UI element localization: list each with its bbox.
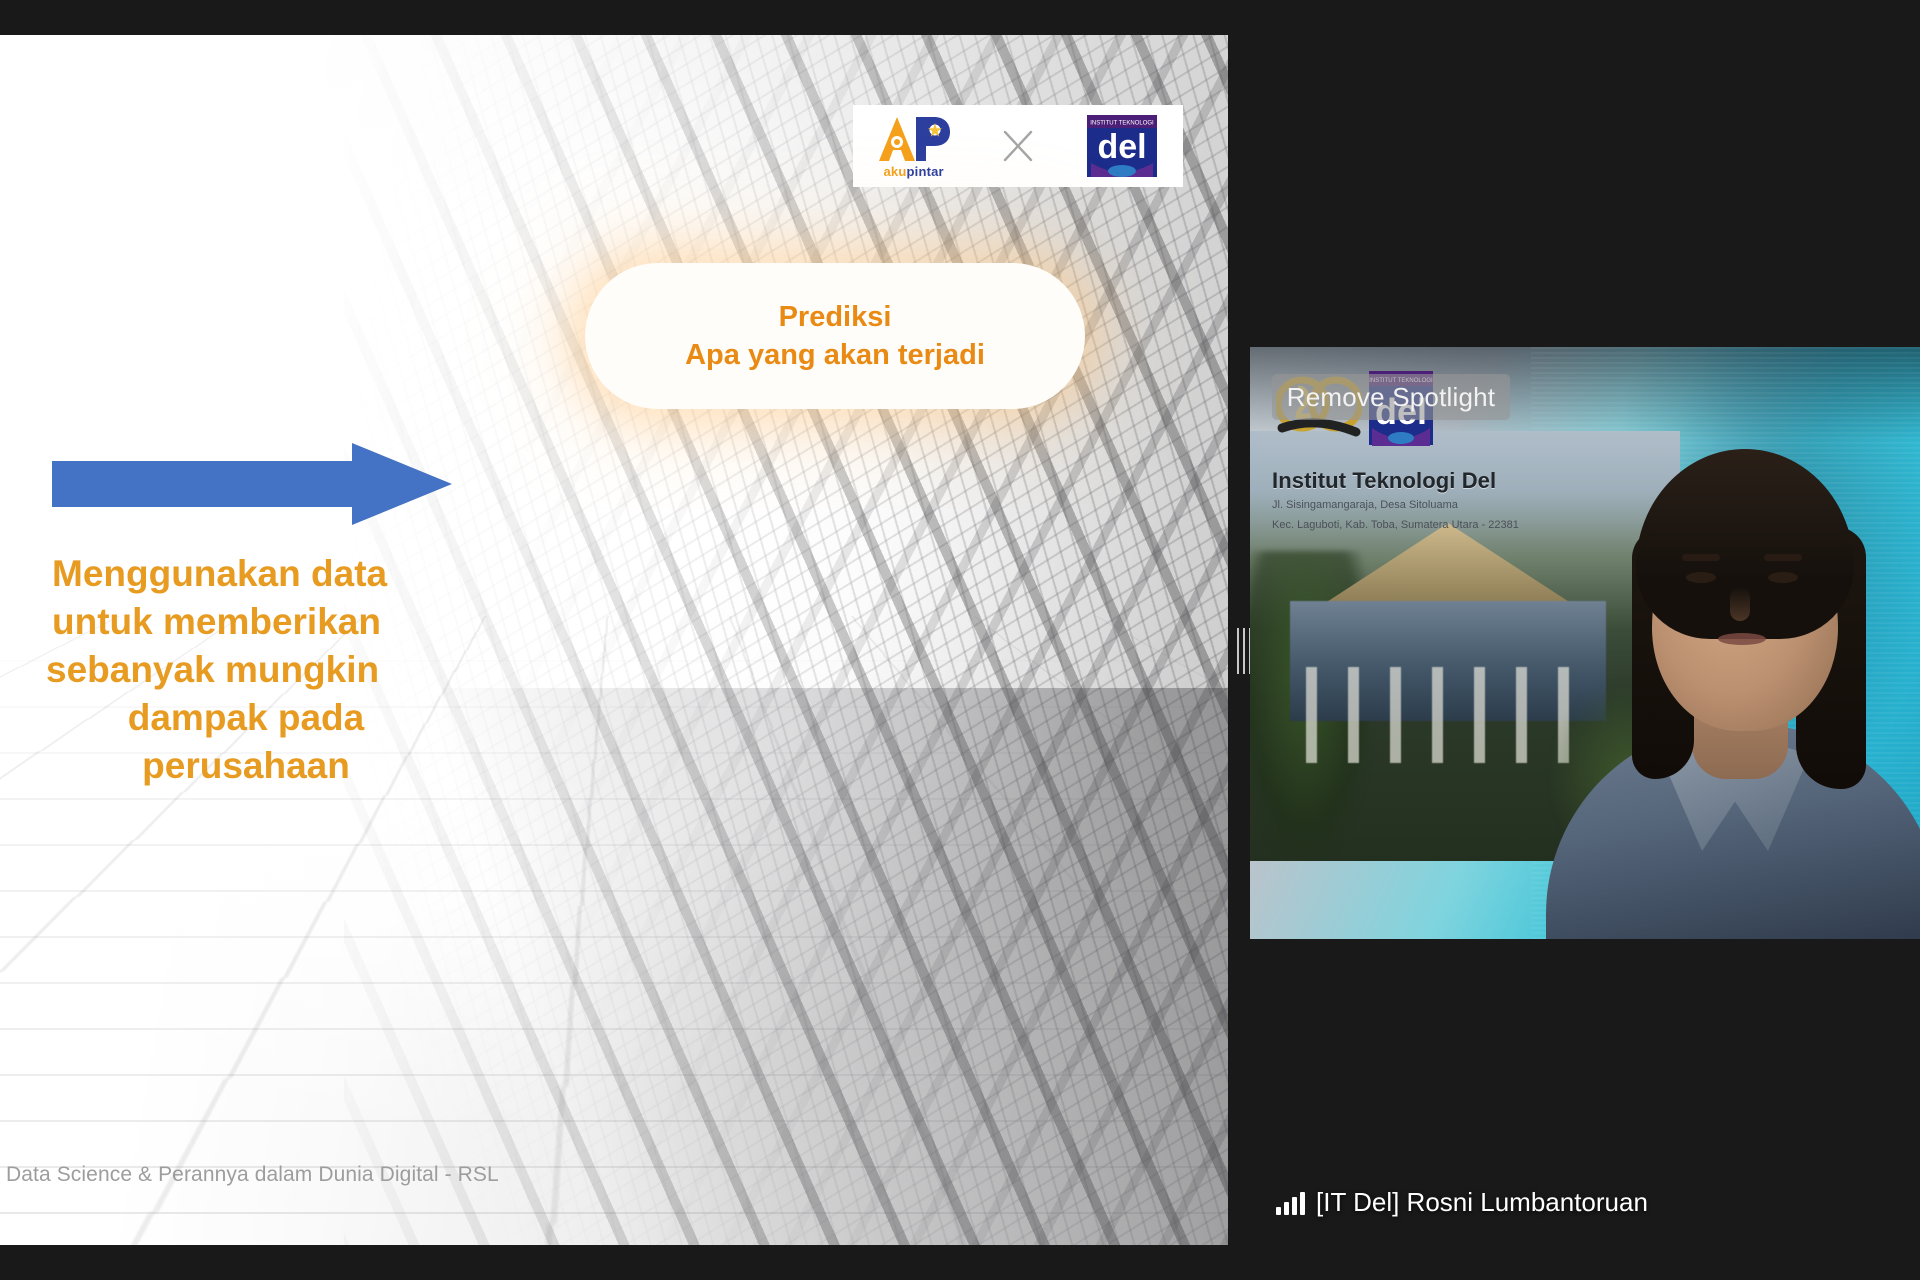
signal-bar bbox=[1284, 1202, 1289, 1215]
body-line-5: perusahaan bbox=[46, 742, 446, 790]
avatar-eye-right bbox=[1768, 572, 1798, 583]
akupintar-p-icon bbox=[910, 115, 952, 163]
akupintar-mark bbox=[877, 115, 951, 163]
shared-slide[interactable]: akupintar INSTITUT TEKNOLOGI del Prediks… bbox=[0, 35, 1228, 1245]
body-line-1: Menggunakan data bbox=[46, 550, 446, 598]
avatar-mouth bbox=[1718, 633, 1766, 645]
slide-body-text: Menggunakan data untuk memberikan sebany… bbox=[46, 550, 446, 790]
remove-spotlight-button[interactable]: Remove Spotlight bbox=[1272, 374, 1510, 420]
avatar-eye-left bbox=[1686, 572, 1716, 583]
handle-line bbox=[1237, 628, 1239, 674]
x-icon bbox=[998, 126, 1038, 166]
slide-background-shadow bbox=[442, 688, 1228, 1245]
participant-name-text: [IT Del] Rosni Lumbantoruan bbox=[1316, 1187, 1648, 1218]
participant-avatar bbox=[1540, 409, 1920, 939]
itdel-address-line-1: Jl. Sisingamangaraja, Desa Sitoluama bbox=[1272, 498, 1572, 514]
signal-bar bbox=[1300, 1192, 1305, 1215]
del-logo-icon: INSTITUT TEKNOLOGI del bbox=[1085, 113, 1159, 179]
logo-strip: akupintar INSTITUT TEKNOLOGI del bbox=[853, 105, 1183, 187]
avatar-nose bbox=[1730, 587, 1750, 621]
signal-bar bbox=[1276, 1207, 1281, 1215]
body-line-4: dampak pada bbox=[46, 694, 446, 742]
svg-text:INSTITUT TEKNOLOGI: INSTITUT TEKNOLOGI bbox=[1091, 121, 1155, 127]
svg-text:del: del bbox=[1098, 128, 1147, 166]
slide-number: 8 bbox=[949, 1164, 960, 1187]
akupintar-word-pintar: pintar bbox=[907, 164, 944, 179]
akupintar-wordmark: akupintar bbox=[883, 165, 943, 178]
signal-bars-icon bbox=[1276, 1191, 1305, 1215]
prediction-callout: Prediksi Apa yang akan terjadi bbox=[585, 263, 1085, 409]
handle-line bbox=[1243, 628, 1245, 674]
avatar-eyebrow-right bbox=[1764, 554, 1802, 561]
itdel-address-line-2: Kec. Laguboti, Kab. Toba, Sumatera Utara… bbox=[1272, 518, 1572, 534]
itdel-title: Institut Teknologi Del bbox=[1272, 468, 1572, 494]
callout-line-2: Apa yang akan terjadi bbox=[685, 336, 985, 374]
slide-footer: Data Science & Perannya dalam Dunia Digi… bbox=[6, 1163, 499, 1187]
akupintar-word-aku: aku bbox=[883, 164, 906, 179]
meeting-screen: akupintar INSTITUT TEKNOLOGI del Prediks… bbox=[0, 0, 1920, 1280]
participant-name-label: [IT Del] Rosni Lumbantoruan bbox=[1276, 1187, 1648, 1218]
callout-line-1: Prediksi bbox=[779, 298, 892, 336]
avatar-eyebrow-left bbox=[1682, 554, 1720, 561]
body-line-3: sebanyak mungkin bbox=[46, 646, 446, 694]
signal-bar bbox=[1292, 1197, 1297, 1215]
right-arrow-icon bbox=[52, 443, 452, 525]
akupintar-logo: akupintar bbox=[877, 115, 951, 178]
body-line-2: untuk memberikan bbox=[46, 598, 446, 646]
